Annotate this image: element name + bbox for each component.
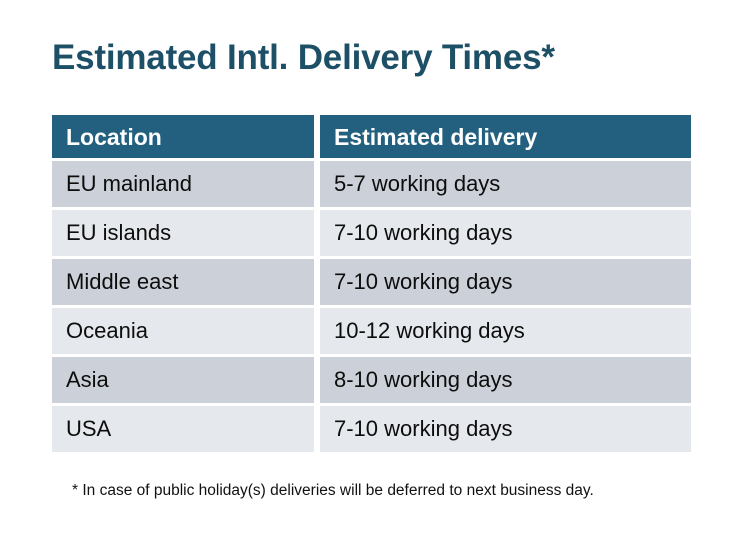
cell-estimated-delivery: 5-7 working days: [320, 161, 691, 207]
table-row: Asia 8-10 working days: [52, 357, 691, 403]
table-row: EU islands 7-10 working days: [52, 210, 691, 256]
table-row: Oceania 10-12 working days: [52, 308, 691, 354]
cell-location: USA: [52, 406, 314, 452]
cell-estimated-delivery: 7-10 working days: [320, 210, 691, 256]
table-header-row: Location Estimated delivery: [52, 115, 691, 158]
table-row: USA 7-10 working days: [52, 406, 691, 452]
cell-location: Middle east: [52, 259, 314, 305]
cell-estimated-delivery: 10-12 working days: [320, 308, 691, 354]
delivery-times-card: Estimated Intl. Delivery Times* Location…: [0, 0, 745, 536]
page-title: Estimated Intl. Delivery Times*: [52, 36, 555, 80]
table-row: EU mainland 5-7 working days: [52, 161, 691, 207]
footnote-text: * In case of public holiday(s) deliverie…: [72, 481, 594, 501]
cell-estimated-delivery: 7-10 working days: [320, 259, 691, 305]
cell-location: Asia: [52, 357, 314, 403]
cell-location: EU islands: [52, 210, 314, 256]
column-header-location: Location: [52, 115, 314, 158]
cell-estimated-delivery: 7-10 working days: [320, 406, 691, 452]
cell-location: EU mainland: [52, 161, 314, 207]
delivery-times-table: Location Estimated delivery EU mainland …: [52, 115, 691, 452]
table-row: Middle east 7-10 working days: [52, 259, 691, 305]
cell-location: Oceania: [52, 308, 314, 354]
cell-estimated-delivery: 8-10 working days: [320, 357, 691, 403]
column-header-estimated-delivery: Estimated delivery: [320, 115, 691, 158]
